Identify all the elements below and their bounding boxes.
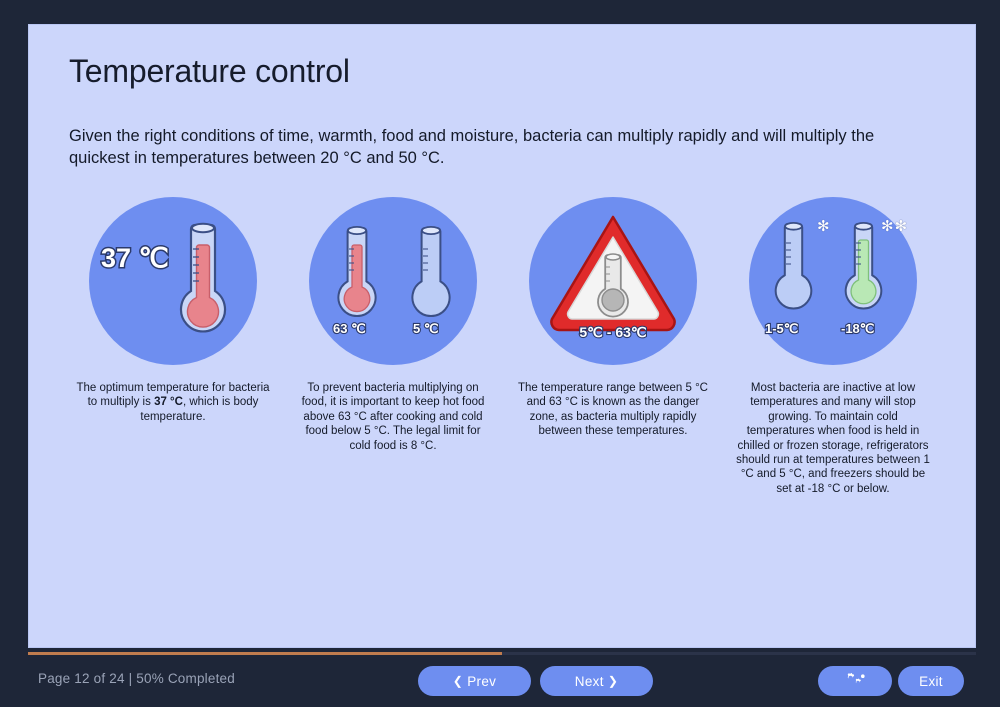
thermometer-chilled — [765, 219, 823, 321]
column-hot-cold-holding: 63 ℃ 5 ℃ To prevent bacteria multiplying… — [283, 197, 503, 496]
snowflake-icon-single: ✻ — [817, 219, 831, 234]
slide-intro-text: Given the right conditions of time, warm… — [69, 125, 935, 169]
caption-optimum-temperature: The optimum temperature for bacteria to … — [75, 381, 271, 424]
thermometer-63c — [327, 223, 389, 327]
temperature-columns: 37 ℃ The optimum temperature for bacteri… — [63, 197, 943, 496]
label-danger-zone-range: 5℃ - 63℃ — [529, 324, 697, 341]
page-status-text: Page 12 of 24 | 50% Completed — [38, 671, 235, 686]
icon-circle-hot-cold: 63 ℃ 5 ℃ — [309, 197, 477, 365]
prev-button[interactable]: ❮ Prev — [418, 666, 531, 696]
settings-button[interactable] — [818, 666, 892, 696]
player-footer: Page 12 of 24 | 50% Completed ❮ Prev Nex… — [0, 660, 1000, 707]
progress-track — [28, 652, 976, 655]
icon-circle-chilled-frozen: ✻ ✻✻ 1-5℃ - — [749, 197, 917, 365]
thermometer-5c — [401, 223, 463, 327]
label-5c: 5 ℃ — [413, 321, 438, 337]
label-frozen-temp: -18℃ — [841, 321, 874, 337]
page-title: Temperature control — [69, 53, 350, 90]
chevron-right-icon: ❯ — [608, 674, 618, 688]
label-optimum-temp: 37 ℃ — [101, 243, 169, 274]
icon-circle-optimum: 37 ℃ — [89, 197, 257, 365]
next-button[interactable]: Next ❯ — [540, 666, 653, 696]
label-chilled-range: 1-5℃ — [765, 321, 798, 337]
exit-button[interactable]: Exit — [898, 666, 964, 696]
column-danger-zone: 5℃ - 63℃ The temperature range between 5… — [503, 197, 723, 496]
next-button-label: Next — [575, 674, 604, 689]
caption-hot-cold-holding: To prevent bacteria multiplying on food,… — [295, 381, 491, 453]
thermometer-37c — [165, 219, 241, 343]
label-63c: 63 ℃ — [333, 321, 366, 337]
snowflake-icon-double: ✻✻ — [881, 219, 908, 234]
warning-triangle-icon — [546, 211, 680, 327]
caption-danger-zone: The temperature range between 5 °C and 6… — [515, 381, 711, 439]
progress-fill — [28, 652, 502, 655]
presentation-player: Temperature control Given the right cond… — [0, 0, 1000, 707]
slide-canvas: Temperature control Given the right cond… — [28, 24, 976, 648]
icon-circle-danger-zone: 5℃ - 63℃ — [529, 197, 697, 365]
gears-icon — [844, 672, 866, 691]
chevron-left-icon: ❮ — [453, 674, 463, 688]
exit-button-label: Exit — [919, 674, 943, 689]
prev-button-label: Prev — [467, 674, 496, 689]
caption-text-bold: 37 °C — [154, 396, 183, 408]
caption-chilled-frozen-storage: Most bacteria are inactive at low temper… — [735, 381, 931, 496]
column-chilled-frozen-storage: ✻ ✻✻ 1-5℃ - — [723, 197, 943, 496]
column-optimum-temperature: 37 ℃ The optimum temperature for bacteri… — [63, 197, 283, 496]
